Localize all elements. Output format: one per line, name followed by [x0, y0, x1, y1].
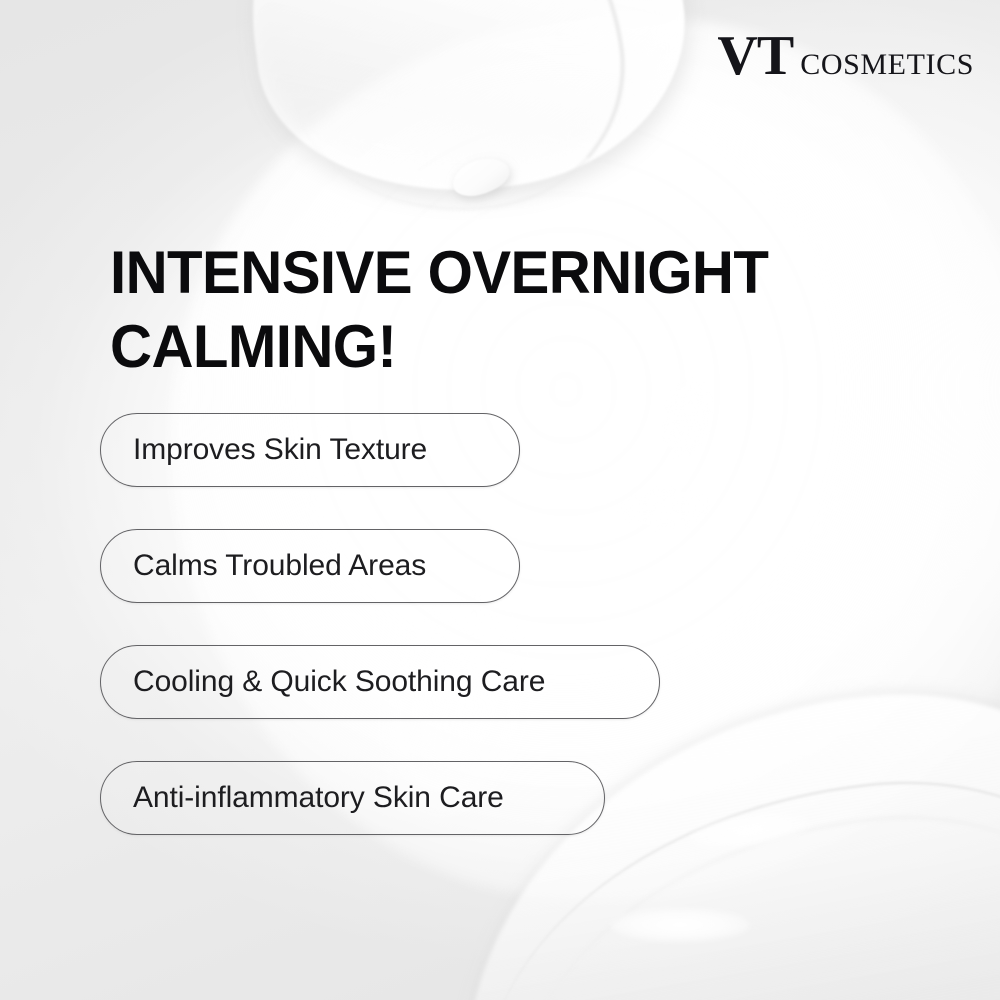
product-banner: VT COSMETICS INTENSIVE OVERNIGHT CALMING…	[0, 0, 1000, 1000]
headline-title: INTENSIVE OVERNIGHT CALMING!	[110, 236, 886, 384]
benefit-pill: Cooling & Quick Soothing Care	[100, 645, 660, 719]
benefit-pill: Improves Skin Texture	[100, 413, 520, 487]
gel-edge-top-shape	[227, 0, 703, 215]
benefit-pill: Calms Troubled Areas	[100, 529, 520, 603]
brand-logo: VT COSMETICS	[717, 34, 974, 80]
benefit-pill-label: Improves Skin Texture	[133, 433, 427, 467]
gel-highlight-lower-center	[610, 908, 750, 942]
gel-highlight-lower-right	[688, 808, 811, 854]
gel-edge-top-outline	[261, 0, 645, 236]
benefit-pill-label: Calms Troubled Areas	[133, 549, 426, 583]
gel-drip-tip-shape	[449, 153, 514, 200]
brand-logo-wordmark: COSMETICS	[800, 53, 974, 78]
gel-highlight-upper-right	[649, 372, 723, 464]
benefit-list: Improves Skin Texture Calms Troubled Are…	[100, 413, 660, 835]
benefit-pill: Anti-inflammatory Skin Care	[100, 761, 605, 835]
benefit-pill-label: Anti-inflammatory Skin Care	[133, 781, 504, 815]
brand-logo-mark: VT	[717, 34, 793, 80]
benefit-pill-label: Cooling & Quick Soothing Care	[133, 665, 545, 699]
